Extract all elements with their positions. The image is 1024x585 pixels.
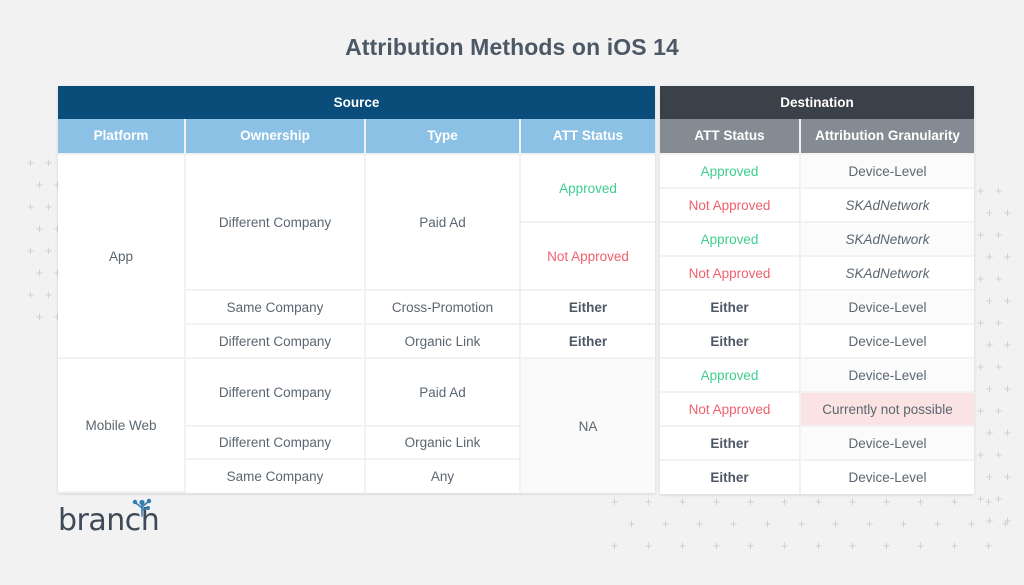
- source-group-header: Source: [58, 86, 655, 119]
- column-header-att-status: ATT Status: [521, 119, 655, 155]
- plus-mark-icon: [1001, 519, 1010, 528]
- column-header-ownership: Ownership: [186, 119, 366, 155]
- attribution-granularity-cell: SKAdNetwork: [801, 223, 974, 257]
- attribution-granularity-cell: Device-Level: [801, 359, 974, 393]
- ownership-cell: Different Company: [186, 427, 364, 460]
- plus-mark-icon: [35, 180, 44, 189]
- dest-att-status-cell: Either: [660, 461, 801, 494]
- type-cell: Any: [366, 460, 519, 493]
- plus-mark-icon: [985, 472, 994, 481]
- attribution-granularity-cell: SKAdNetwork: [801, 257, 974, 291]
- plus-mark-icon: [610, 497, 619, 506]
- column-header-attribution-granularity: Attribution Granularity: [801, 119, 974, 155]
- plus-mark-icon: [729, 519, 738, 528]
- ownership-cell: Different Company: [186, 325, 364, 359]
- type-cell: Cross-Promotion: [366, 291, 519, 325]
- attribution-granularity-cell: Device-Level: [801, 155, 974, 189]
- att-status-cell: Approved: [521, 155, 655, 223]
- attribution-granularity-cell: Device-Level: [801, 427, 974, 461]
- source-table: Source Platform Ownership Type ATT Statu…: [58, 86, 655, 493]
- plus-mark-icon: [44, 158, 53, 167]
- plus-mark-icon: [644, 497, 653, 506]
- attribution-granularity-cell: Device-Level: [801, 461, 974, 494]
- plus-mark-icon: [985, 252, 994, 261]
- plus-mark-icon: [1003, 340, 1012, 349]
- plus-mark-icon: [35, 224, 44, 233]
- plus-mark-icon: [985, 516, 994, 525]
- plus-mark-icon: [35, 268, 44, 277]
- attribution-granularity-cell: Device-Level: [801, 291, 974, 325]
- plus-mark-icon: [848, 541, 857, 550]
- column-header-type: Type: [366, 119, 521, 155]
- column-header-platform: Platform: [58, 119, 186, 155]
- plus-mark-icon: [967, 519, 976, 528]
- plus-mark-icon: [976, 450, 985, 459]
- plus-mark-icon: [994, 186, 1003, 195]
- dest-att-status-cell: Either: [660, 291, 801, 325]
- plus-mark-icon: [1003, 384, 1012, 393]
- table-row: EitherDevice-Level: [660, 461, 974, 494]
- table-row: EitherDevice-Level: [660, 427, 974, 461]
- destination-group-header: Destination: [660, 86, 974, 119]
- platform-cell: Mobile Web: [58, 359, 184, 493]
- destination-body: ApprovedDevice-LevelNot ApprovedSKAdNetw…: [660, 155, 974, 494]
- plus-mark-icon: [44, 290, 53, 299]
- plus-mark-icon: [950, 497, 959, 506]
- type-column-mobile-web: Paid Ad Organic Link Any: [366, 359, 521, 493]
- plus-mark-icon: [950, 541, 959, 550]
- plus-mark-icon: [985, 296, 994, 305]
- source-group-mobile-web: Mobile Web Different Company Different C…: [58, 359, 655, 493]
- dest-att-status-cell: Approved: [660, 223, 801, 257]
- plus-mark-icon: [985, 340, 994, 349]
- destination-column-headers: ATT Status Attribution Granularity: [660, 119, 974, 155]
- branch-sprout-icon: [130, 497, 156, 522]
- plus-mark-icon: [35, 312, 44, 321]
- plus-mark-icon: [26, 158, 35, 167]
- plus-mark-icon: [44, 202, 53, 211]
- plus-mark-icon: [797, 519, 806, 528]
- plus-mark-icon: [1003, 296, 1012, 305]
- ownership-cell: Same Company: [186, 291, 364, 325]
- att-status-cell: NA: [521, 359, 655, 493]
- plus-mark-icon: [848, 497, 857, 506]
- ownership-cell: Different Company: [186, 155, 364, 291]
- platform-column-app: App: [58, 155, 186, 359]
- plus-mark-icon: [1003, 472, 1012, 481]
- type-cell: Paid Ad: [366, 155, 519, 291]
- ownership-cell: Same Company: [186, 460, 364, 493]
- plus-mark-icon: [1003, 252, 1012, 261]
- plus-mark-icon: [984, 541, 993, 550]
- plus-mark-icon: [780, 497, 789, 506]
- dest-att-status-cell: Approved: [660, 155, 801, 189]
- plus-mark-icon: [984, 497, 993, 506]
- table-row: EitherDevice-Level: [660, 325, 974, 359]
- platform-cell: App: [58, 155, 184, 359]
- table-row: ApprovedDevice-Level: [660, 155, 974, 189]
- plus-mark-icon: [712, 541, 721, 550]
- plus-mark-icon: [994, 318, 1003, 327]
- attribution-table: Source Platform Ownership Type ATT Statu…: [58, 86, 974, 493]
- table-row: Not ApprovedCurrently not possible: [660, 393, 974, 427]
- plus-mark-icon: [746, 497, 755, 506]
- plus-mark-icon: [26, 246, 35, 255]
- type-cell: Organic Link: [366, 325, 519, 359]
- plus-mark-icon: [985, 208, 994, 217]
- att-status-column-app: Approved Not Approved Either Either: [521, 155, 655, 359]
- dest-att-status-cell: Either: [660, 427, 801, 461]
- plus-mark-icon: [1003, 428, 1012, 437]
- plus-mark-icon: [865, 519, 874, 528]
- attribution-granularity-cell: Device-Level: [801, 325, 974, 359]
- type-column-app: Paid Ad Cross-Promotion Organic Link: [366, 155, 521, 359]
- plus-mark-icon: [882, 541, 891, 550]
- plus-mark-icon: [610, 541, 619, 550]
- plus-mark-icon: [678, 541, 687, 550]
- plus-mark-icon: [994, 494, 1003, 503]
- plus-mark-icon: [985, 384, 994, 393]
- plus-mark-icon: [985, 428, 994, 437]
- dest-att-status-cell: Not Approved: [660, 257, 801, 291]
- plus-mark-icon: [976, 318, 985, 327]
- plus-mark-icon: [661, 519, 670, 528]
- attribution-granularity-cell: Currently not possible: [801, 393, 974, 427]
- plus-mark-icon: [976, 230, 985, 239]
- plus-mark-icon: [976, 406, 985, 415]
- plus-mark-icon: [814, 497, 823, 506]
- plus-mark-icon: [831, 519, 840, 528]
- plus-mark-icon: [994, 230, 1003, 239]
- branch-logo: branch: [58, 506, 159, 536]
- dest-att-status-cell: Not Approved: [660, 393, 801, 427]
- platform-column-mobile-web: Mobile Web: [58, 359, 186, 493]
- plus-mark-icon: [746, 541, 755, 550]
- plus-mark-icon: [1003, 208, 1012, 217]
- plus-mark-icon: [644, 541, 653, 550]
- plus-mark-icon: [994, 450, 1003, 459]
- dest-att-status-cell: Approved: [660, 359, 801, 393]
- plus-mark-icon: [627, 519, 636, 528]
- att-status-cell: Either: [521, 325, 655, 359]
- att-status-column-mobile-web: NA: [521, 359, 655, 493]
- plus-mark-icon: [976, 274, 985, 283]
- plus-mark-icon: [899, 519, 908, 528]
- plus-mark-icon: [814, 541, 823, 550]
- plus-mark-icon: [933, 519, 942, 528]
- plus-mark-icon: [780, 541, 789, 550]
- plus-mark-icon: [994, 274, 1003, 283]
- type-cell: Paid Ad: [366, 359, 519, 427]
- att-status-cell: Not Approved: [521, 223, 655, 291]
- table-row: ApprovedDevice-Level: [660, 359, 974, 393]
- plus-mark-icon: [26, 202, 35, 211]
- ownership-column-mobile-web: Different Company Different Company Same…: [186, 359, 366, 493]
- ownership-cell: Different Company: [186, 359, 364, 427]
- column-header-dest-att-status: ATT Status: [660, 119, 801, 155]
- plus-mark-icon: [695, 519, 704, 528]
- table-row: Not ApprovedSKAdNetwork: [660, 257, 974, 291]
- dest-att-status-cell: Not Approved: [660, 189, 801, 223]
- table-row: Not ApprovedSKAdNetwork: [660, 189, 974, 223]
- type-cell: Organic Link: [366, 427, 519, 460]
- att-status-cell: Either: [521, 291, 655, 325]
- plus-mark-icon: [712, 497, 721, 506]
- plus-mark-icon: [1003, 516, 1012, 525]
- plus-mark-icon: [976, 186, 985, 195]
- plus-mark-icon: [916, 541, 925, 550]
- attribution-granularity-cell: SKAdNetwork: [801, 189, 974, 223]
- plus-mark-icon: [44, 246, 53, 255]
- plus-mark-icon: [882, 497, 891, 506]
- plus-mark-icon: [916, 497, 925, 506]
- table-row: ApprovedSKAdNetwork: [660, 223, 974, 257]
- destination-table: Destination ATT Status Attribution Granu…: [660, 86, 974, 494]
- plus-mark-icon: [26, 290, 35, 299]
- table-row: EitherDevice-Level: [660, 291, 974, 325]
- plus-mark-icon: [994, 406, 1003, 415]
- plus-mark-icon: [763, 519, 772, 528]
- source-body: App Different Company Same Company Diffe…: [58, 155, 655, 493]
- plus-mark-icon: [976, 362, 985, 371]
- source-group-app: App Different Company Same Company Diffe…: [58, 155, 655, 359]
- ownership-column-app: Different Company Same Company Different…: [186, 155, 366, 359]
- plus-mark-icon: [994, 362, 1003, 371]
- plus-mark-icon: [976, 494, 985, 503]
- plus-mark-icon: [678, 497, 687, 506]
- source-column-headers: Platform Ownership Type ATT Status: [58, 119, 655, 155]
- page-title: Attribution Methods on iOS 14: [0, 34, 1024, 61]
- dest-att-status-cell: Either: [660, 325, 801, 359]
